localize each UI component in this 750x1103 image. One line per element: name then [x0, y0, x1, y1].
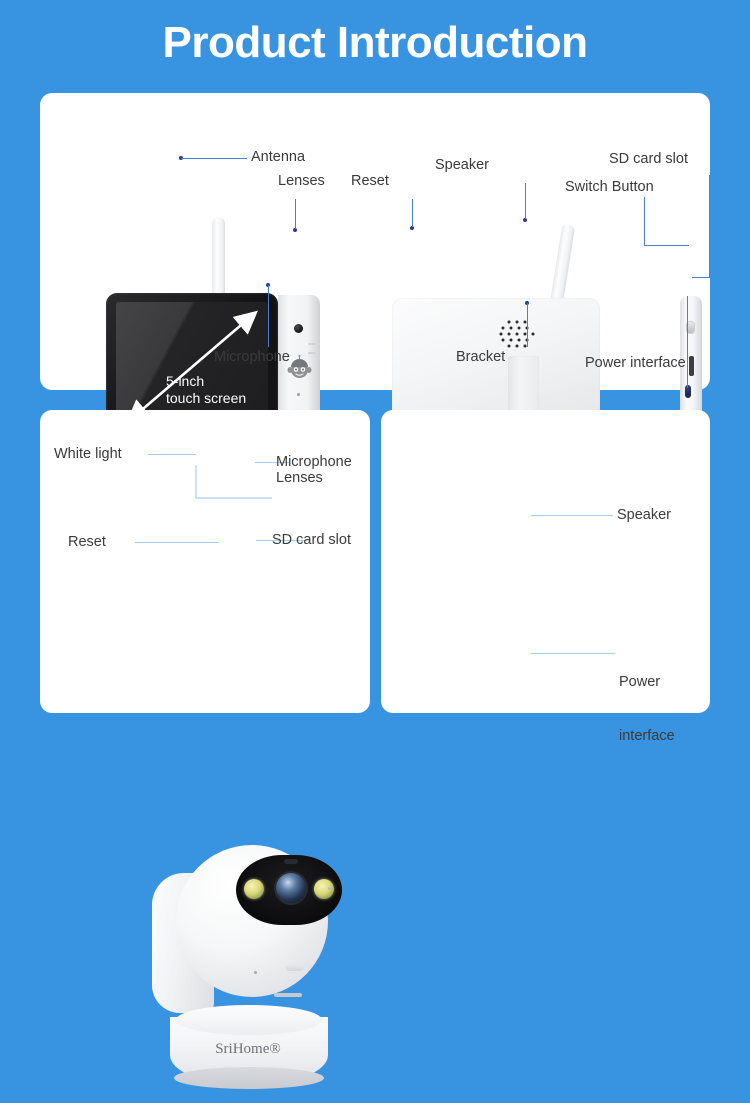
leader-switch-v — [644, 197, 645, 245]
leader-reset-cam — [135, 542, 219, 543]
chin-slot-decor — [274, 993, 302, 997]
brand-logo-base: SriHome® — [208, 1041, 288, 1058]
label-sd-card-slot-camera: SD card slot — [272, 532, 351, 549]
white-light-led-icon-left — [244, 879, 264, 899]
vent-line-2 — [308, 352, 316, 354]
lens-icon — [294, 324, 303, 333]
camera-front-device: SriHome® — [140, 845, 340, 1103]
screen-size-caption: 5-inch touch screen — [166, 373, 276, 407]
base-top-ring — [176, 1005, 322, 1035]
sd-card-slot-icon[interactable] — [286, 965, 304, 971]
leader-switch-h — [644, 245, 689, 246]
product-introduction-page: Product Introduction — [0, 0, 750, 750]
robot-face-icon — [287, 355, 312, 381]
screen-size-line1: 5-inch — [166, 373, 276, 390]
leader-power-cam — [531, 653, 615, 654]
camera-back-panel: DC 5V Speaker Power interface — [381, 410, 710, 713]
speaker-dot-grid-icon — [495, 316, 539, 350]
leader-speaker-cam — [531, 515, 613, 516]
leader-reset-v — [412, 199, 413, 227]
camera-faceplate — [236, 855, 342, 925]
screen-size-line2: touch screen — [166, 390, 276, 407]
microphone-hole-icon — [328, 887, 331, 890]
leader-antenna — [181, 158, 247, 159]
label-speaker-monitor: Speaker — [435, 157, 489, 174]
leader-bracket-v — [527, 303, 528, 347]
monitor-panel: 5-inch touch screen — [40, 93, 710, 390]
reset-pinhole-icon[interactable] — [254, 971, 257, 974]
leader-lenses-camera — [40, 410, 370, 713]
label-reset-monitor: Reset — [351, 173, 389, 190]
camera-lens-icon — [276, 873, 306, 903]
leader-sd-v — [709, 175, 710, 277]
label-lenses-camera: Lenses — [276, 470, 323, 487]
ir-sensor-icon — [284, 859, 298, 864]
base-bottom-ring — [174, 1067, 324, 1089]
label-antenna: Antenna — [251, 149, 305, 166]
label-reset-camera: Reset — [68, 534, 106, 551]
camera-front-panel: SriHome® White light Microphone Lenses R… — [40, 410, 370, 713]
label-sd-card-slot-monitor: SD card slot — [609, 151, 688, 168]
page-title: Product Introduction — [0, 18, 750, 68]
label-power-line2: interface — [619, 727, 675, 745]
switch-button-icon[interactable] — [687, 322, 694, 333]
sd-card-slot-icon[interactable] — [689, 356, 694, 376]
camera-front-base: SriHome® — [166, 1005, 332, 1097]
microphone-hole-icon — [297, 393, 300, 396]
label-power-interface-camera: Power interface — [619, 637, 675, 781]
vent-line-1 — [308, 343, 316, 345]
label-speaker-camera: Speaker — [617, 507, 671, 524]
label-lenses: Lenses — [278, 173, 325, 190]
leader-microphone-v — [268, 285, 269, 347]
leader-lenses-v — [295, 199, 296, 229]
label-bracket: Bracket — [456, 349, 505, 366]
white-light-led-icon-right — [314, 879, 334, 899]
leader-sd-h — [692, 277, 710, 278]
label-switch-button: Switch Button — [565, 179, 654, 196]
leader-power-v — [687, 296, 688, 388]
label-microphone-monitor: Microphone — [214, 349, 290, 366]
camera-front-head — [176, 845, 328, 997]
label-power-line1: Power — [619, 673, 675, 691]
label-power-interface-monitor: Power interface — [585, 355, 686, 372]
leader-speaker-v — [525, 183, 526, 219]
